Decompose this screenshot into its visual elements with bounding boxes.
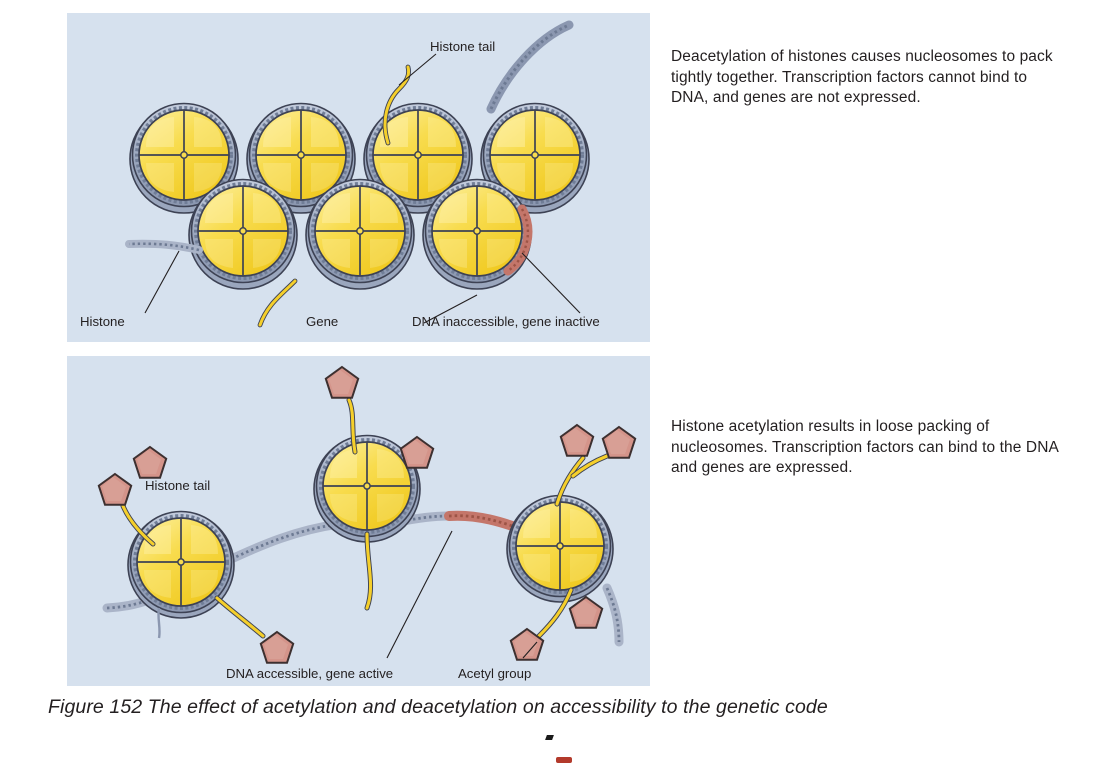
nucleosome-front-1 [189, 180, 297, 290]
histone-tail-lower [260, 281, 295, 325]
label-histone: Histone [80, 314, 125, 329]
label-histone-tail-top: Histone tail [430, 39, 495, 54]
acetyl-group-3 [261, 632, 293, 663]
label-acetyl-group: Acetyl group [458, 666, 531, 681]
label-histone-tail-bottom: Histone tail [145, 478, 210, 493]
acetyl-group-8 [570, 597, 602, 628]
acetyl-group-5 [401, 437, 433, 468]
panel-deacetylation: Histone tail Histone Gene DNA inaccessib… [67, 13, 650, 342]
dna-squiggle-left [158, 608, 159, 638]
acetyl-group-7 [603, 427, 635, 458]
panel-acetylation-graphic: Histone tail DNA accessible, gene active… [67, 356, 650, 686]
acetyl-group-4 [326, 367, 358, 398]
nucleosome-front-2 [306, 180, 414, 290]
label-gene: Gene [306, 314, 338, 329]
leader-histone-tail [399, 54, 436, 85]
acetyl-group-1 [99, 474, 131, 505]
dna-free-strand [491, 25, 569, 109]
leader-dna-accessible [387, 531, 452, 658]
histone-tail-mid-down [367, 534, 371, 608]
label-dna-accessible: DNA accessible, gene active [226, 666, 393, 681]
histone-tail-left-down [217, 598, 263, 636]
page-artifact-red-mark [556, 757, 572, 763]
dna-left-strand [129, 244, 199, 250]
label-dna-inaccessible: DNA inaccessible, gene inactive [412, 314, 600, 329]
description-acetylation: Histone acetylation results in loose pac… [671, 417, 1063, 479]
nucleosome-front-3 [423, 180, 531, 290]
leader-histone [145, 251, 179, 313]
panel-deacetylation-graphic: Histone tail Histone Gene DNA inaccessib… [67, 13, 650, 342]
acetyl-group-2 [134, 447, 166, 478]
description-deacetylation: Deacetylation of histones causes nucleos… [671, 47, 1063, 109]
panel-acetylation: Histone tail DNA accessible, gene active… [67, 356, 650, 686]
figure-caption: Figure 152 The effect of acetylation and… [48, 696, 1068, 719]
figure-root: Histone tail Histone Gene DNA inaccessib… [0, 0, 1098, 762]
acetyl-group-6 [561, 425, 593, 456]
nucleosome-right [507, 496, 613, 603]
page-artifact-mark [545, 735, 554, 740]
leader-dna-inaccessible [522, 253, 580, 313]
